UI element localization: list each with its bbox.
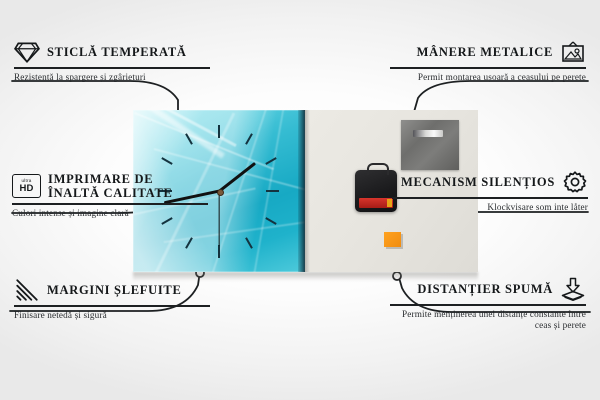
feature-subtitle: Rezistentă la spargere și zgârieturi: [14, 69, 210, 84]
gear-icon: [562, 170, 588, 194]
hanger-slot: [413, 130, 443, 137]
battery: [359, 198, 393, 208]
feature-imprimare-calitate: ultra HD IMPRIMARE DE ÎNALTĂ CALITATE Cu…: [12, 172, 208, 219]
second-hand: [218, 192, 219, 246]
diamond-icon: [14, 40, 40, 64]
infographic-canvas: STICLĂ TEMPERATĂ Rezistentă la spargere …: [0, 0, 600, 400]
feature-title: DISTANȚIER SPUMĂ: [417, 282, 553, 296]
feature-subtitle: Finisare netedă și sigură: [14, 307, 210, 322]
hatched-edge-icon: [14, 278, 40, 302]
feature-title: MECANISM SILENȚIOS: [401, 175, 555, 189]
connector-manere: [414, 81, 588, 112]
metal-hanger-plate: [401, 120, 459, 170]
picture-frame-icon: [560, 40, 586, 64]
feature-title: IMPRIMARE DE ÎNALTĂ CALITATE: [48, 172, 208, 200]
feature-subtitle: Permite menținerea unei distanțe constan…: [390, 306, 586, 333]
feature-subtitle: Permit montarea ușoară a ceasului pe per…: [390, 69, 586, 84]
movement-hanger-loop: [367, 163, 389, 175]
feature-sticla-temperata: STICLĂ TEMPERATĂ Rezistentă la spargere …: [14, 40, 210, 83]
hands-pivot: [217, 189, 224, 196]
feature-title: STICLĂ TEMPERATĂ: [47, 45, 187, 59]
ultra-hd-icon: ultra HD: [12, 174, 41, 198]
feature-title: MÂNERE METALICE: [417, 45, 553, 59]
feature-mecanism-silentios: MECANISM SILENȚIOS Klockvisare som inte …: [392, 170, 588, 213]
press-down-layer-icon: [560, 277, 586, 301]
feature-distantier-spuma: DISTANȚIER SPUMĂ Permite menținerea unei…: [390, 277, 586, 332]
feature-margini-slefuite: MARGINI ȘLEFUITE Finisare netedă și sigu…: [14, 278, 210, 321]
ultra-hd-icon-main: HD: [19, 184, 33, 194]
quartz-movement: [355, 170, 397, 212]
feature-title: MARGINI ȘLEFUITE: [47, 283, 182, 297]
feature-manere-metalice: MÂNERE METALICE Permit montarea ușoară a…: [390, 40, 586, 83]
feature-subtitle: Klockvisare som inte låter: [392, 199, 588, 214]
foam-spacer: [384, 232, 401, 247]
feature-subtitle: Culori intense și imagine clară: [12, 205, 208, 220]
